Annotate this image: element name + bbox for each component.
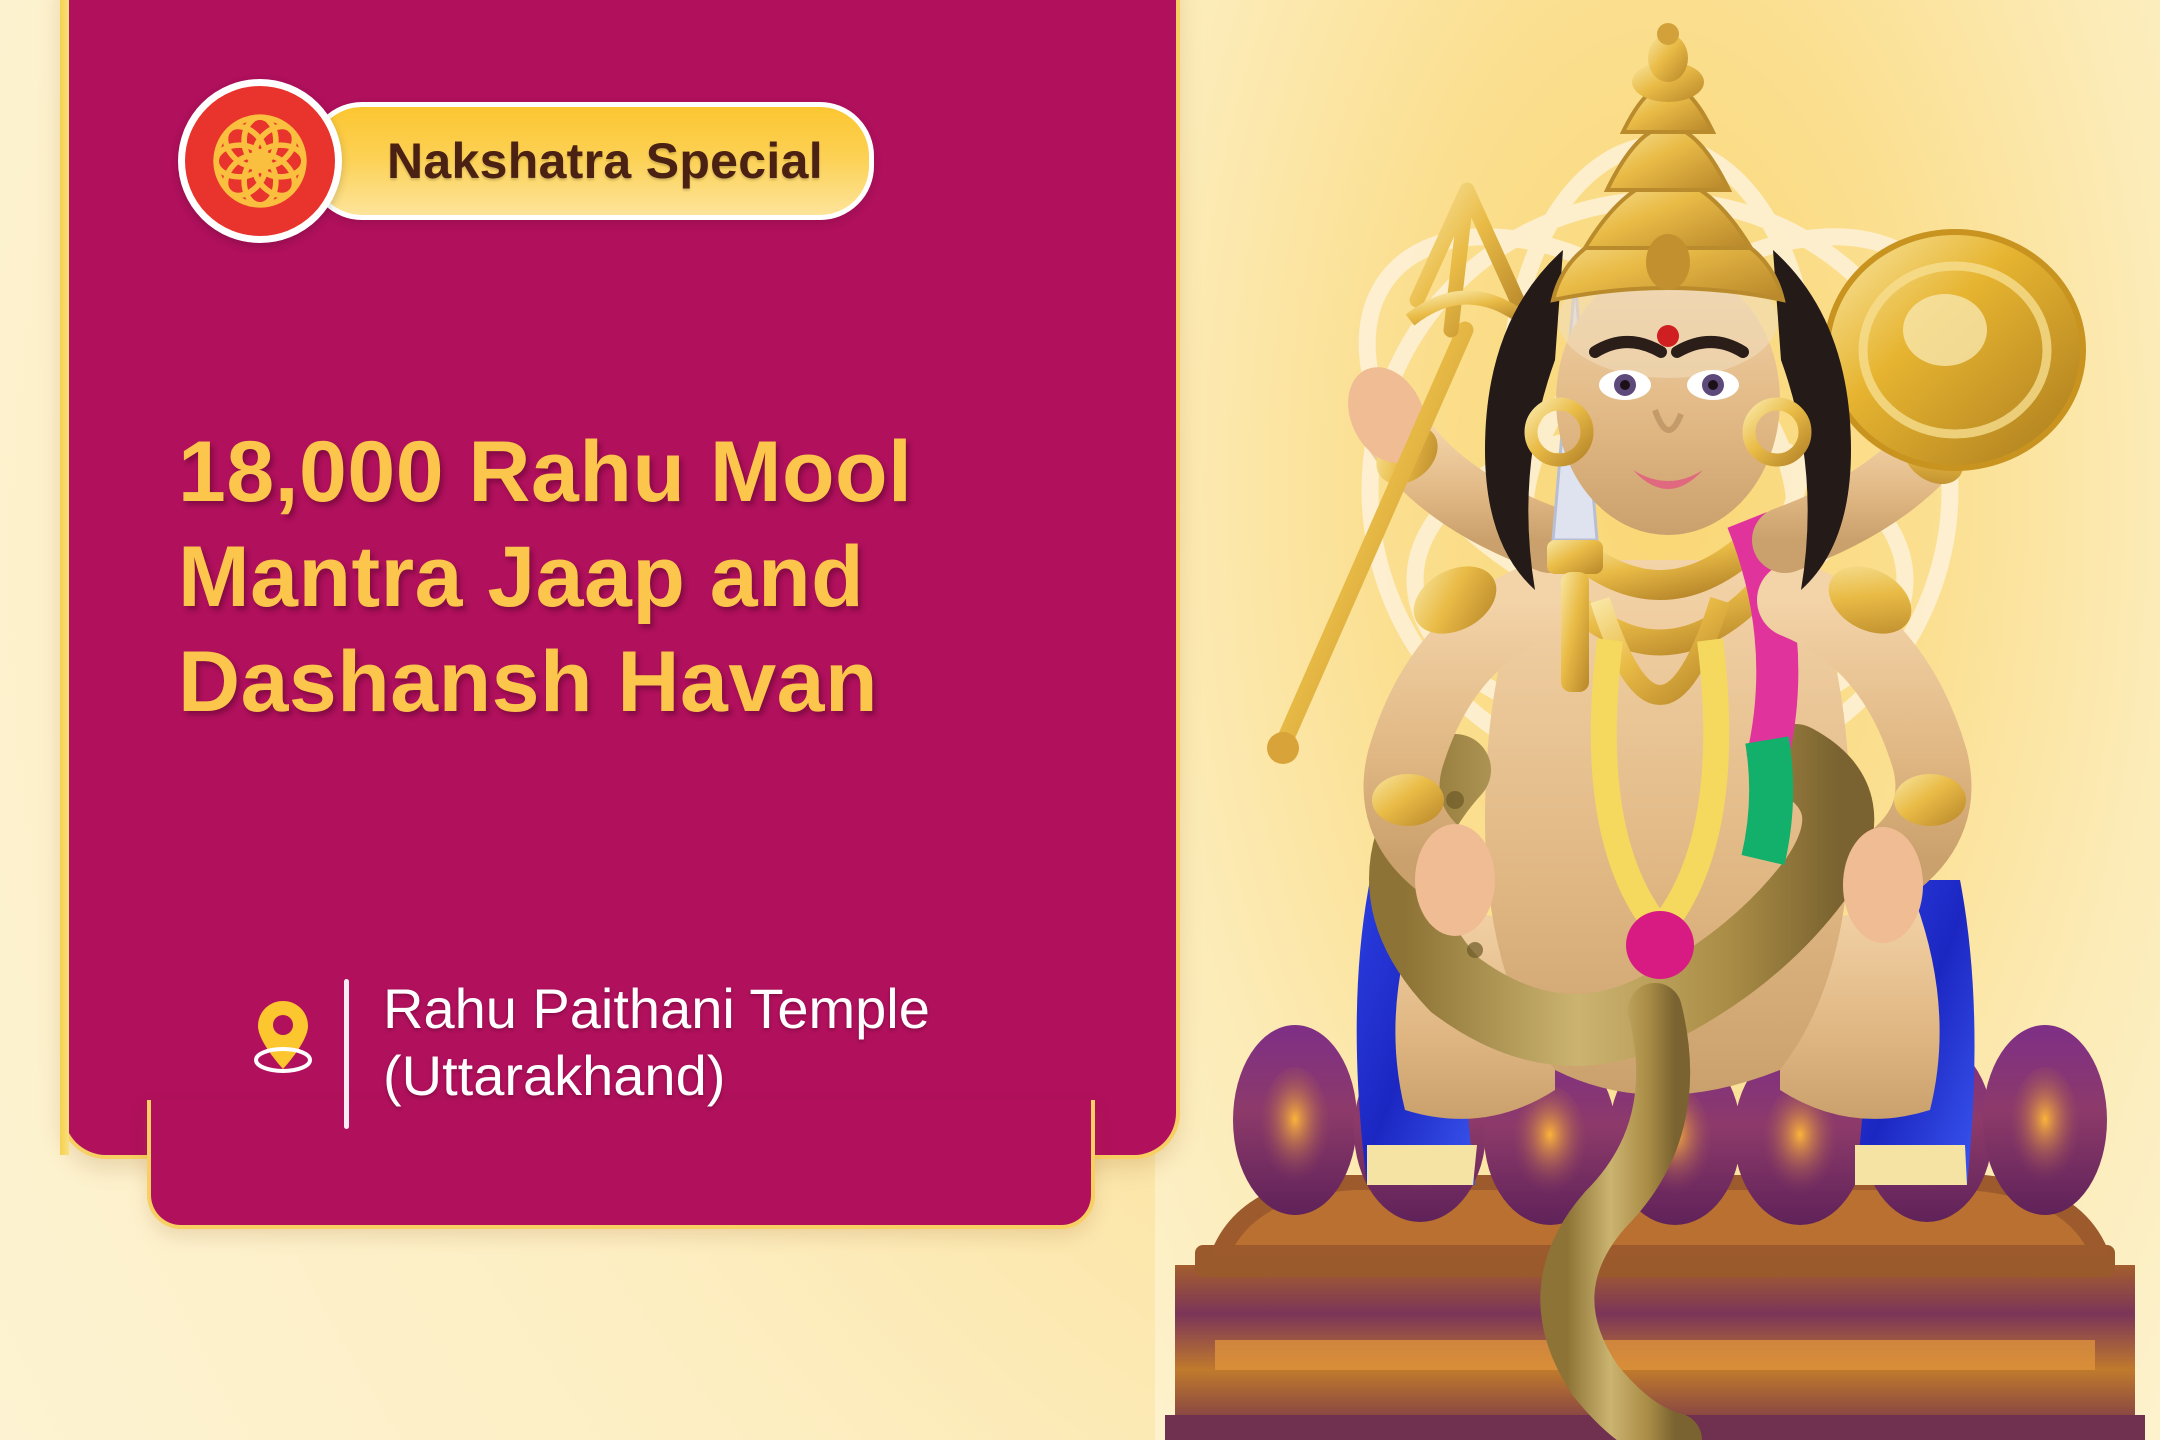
crown-icon <box>1553 23 1783 300</box>
headline-line-2: Mantra Jaap and <box>178 525 1108 630</box>
location-text: Rahu Paithani Temple (Uttarakhand) <box>383 975 930 1109</box>
headline-line-1: 18,000 Rahu Mool <box>178 420 1108 525</box>
badge-label: Nakshatra Special <box>387 132 823 190</box>
nakshatra-special-badge[interactable]: Nakshatra Special <box>178 86 874 236</box>
promo-poster: Nakshatra Special 18,000 Rahu Mool Mantr… <box>0 0 2160 1440</box>
headline-line-3: Dashansh Havan <box>178 630 1108 735</box>
page-title: 18,000 Rahu Mool Mantra Jaap and Dashans… <box>178 420 1108 735</box>
lotus-rosette-icon <box>204 105 316 217</box>
info-card: Nakshatra Special 18,000 Rahu Mool Mantr… <box>0 0 1190 1250</box>
badge-emblem <box>178 79 342 243</box>
location-line-1: Rahu Paithani Temple <box>383 975 930 1042</box>
location-line-2: (Uttarakhand) <box>383 1042 930 1109</box>
rahu-deity-illustration <box>1155 0 2160 1440</box>
hand-lower-right <box>1843 827 1923 943</box>
hand-lower-left <box>1415 824 1495 936</box>
deity-artwork-panel <box>1155 0 2160 1440</box>
garland-pendant <box>1626 911 1694 979</box>
badge-pill: Nakshatra Special <box>308 102 874 220</box>
location-block: Rahu Paithani Temple (Uttarakhand) <box>252 975 930 1133</box>
location-divider <box>344 979 349 1129</box>
golden-disc-icon <box>1827 232 2083 468</box>
bindi <box>1657 325 1679 347</box>
green-sash <box>1763 740 1771 860</box>
map-pin-icon <box>252 997 314 1075</box>
